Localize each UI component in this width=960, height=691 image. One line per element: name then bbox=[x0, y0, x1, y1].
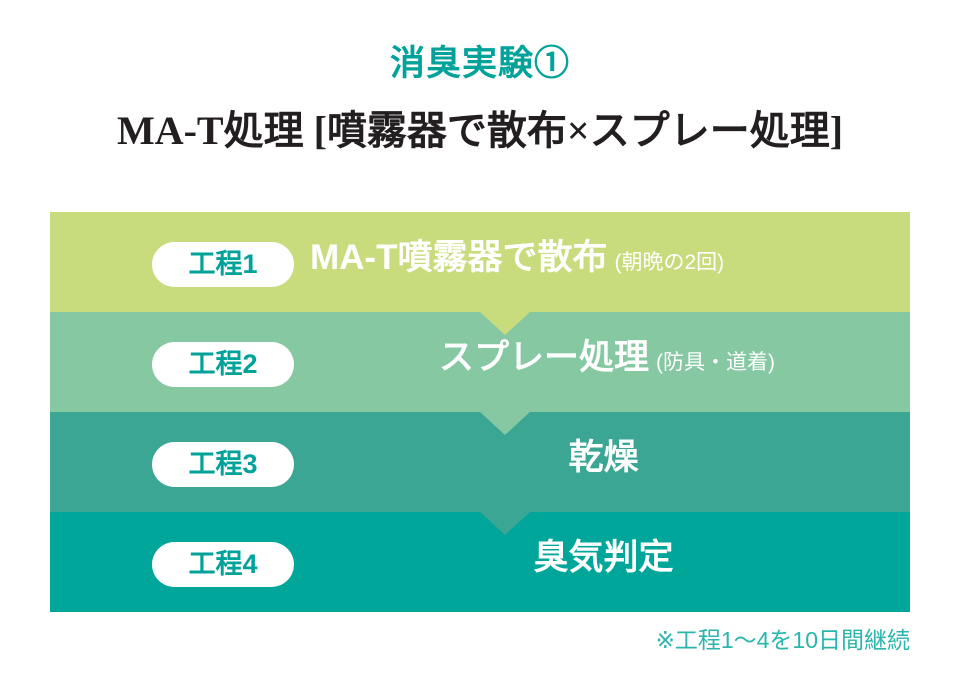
footer-note: ※工程1〜4を10日間継続 bbox=[656, 627, 910, 655]
flow-step-row-4: 工程4 臭気判定 bbox=[50, 512, 910, 612]
step-main-text-4: 臭気判定 bbox=[533, 540, 673, 575]
step-main-text-1: MA-T噴霧器で散布 bbox=[310, 240, 607, 275]
step-badge-1: 工程1 bbox=[152, 242, 294, 287]
flow-connector-chevron-icon-2 bbox=[480, 412, 530, 435]
step-text-group-1: MA-T噴霧器で散布 (朝晩の2回) bbox=[310, 240, 724, 288]
flow-step-row-3: 工程3 乾燥 bbox=[50, 412, 910, 512]
step-main-text-2: スプレー処理 bbox=[439, 340, 649, 375]
step-badge-label-4: 工程4 bbox=[188, 551, 257, 578]
step-text-group-4: 臭気判定 bbox=[304, 540, 910, 588]
flow-step-band-1: 工程1 MA-T噴霧器で散布 (朝晩の2回) bbox=[50, 212, 910, 312]
step-badge-label-2: 工程2 bbox=[188, 351, 257, 378]
step-badge-label-1: 工程1 bbox=[188, 251, 257, 278]
step-note-text-2: (防具・道着) bbox=[656, 352, 775, 373]
step-text-group-2: スプレー処理 (防具・道着) bbox=[304, 340, 910, 388]
step-badge-label-3: 工程3 bbox=[188, 451, 257, 478]
step-badge-4: 工程4 bbox=[152, 542, 294, 587]
flow-connector-chevron-icon-1 bbox=[480, 312, 530, 335]
process-flow-panel: 工程1 MA-T噴霧器で散布 (朝晩の2回) 工程2 スプレー処理 (防具・道着… bbox=[50, 212, 910, 612]
flow-connector-chevron-icon-3 bbox=[480, 512, 530, 535]
page-canvas: 消臭実験① MA-T処理 [噴霧器で散布×スプレー処理] 工程1 MA-T噴霧器… bbox=[0, 0, 960, 691]
step-note-text-1: (朝晩の2回) bbox=[614, 252, 724, 273]
step-main-text-3: 乾燥 bbox=[568, 440, 638, 475]
step-badge-3: 工程3 bbox=[152, 442, 294, 487]
flow-step-band-2: 工程2 スプレー処理 (防具・道着) bbox=[50, 312, 910, 412]
flow-step-band-3: 工程3 乾燥 bbox=[50, 412, 910, 512]
step-badge-2: 工程2 bbox=[152, 342, 294, 387]
flow-step-row-1: 工程1 MA-T噴霧器で散布 (朝晩の2回) bbox=[50, 212, 910, 312]
flow-step-band-4: 工程4 臭気判定 bbox=[50, 512, 910, 612]
step-text-group-3: 乾燥 bbox=[304, 440, 910, 488]
flow-step-row-2: 工程2 スプレー処理 (防具・道着) bbox=[50, 312, 910, 412]
page-title: 消臭実験① bbox=[0, 45, 960, 84]
page-subtitle: MA-T処理 [噴霧器で散布×スプレー処理] bbox=[0, 108, 960, 154]
